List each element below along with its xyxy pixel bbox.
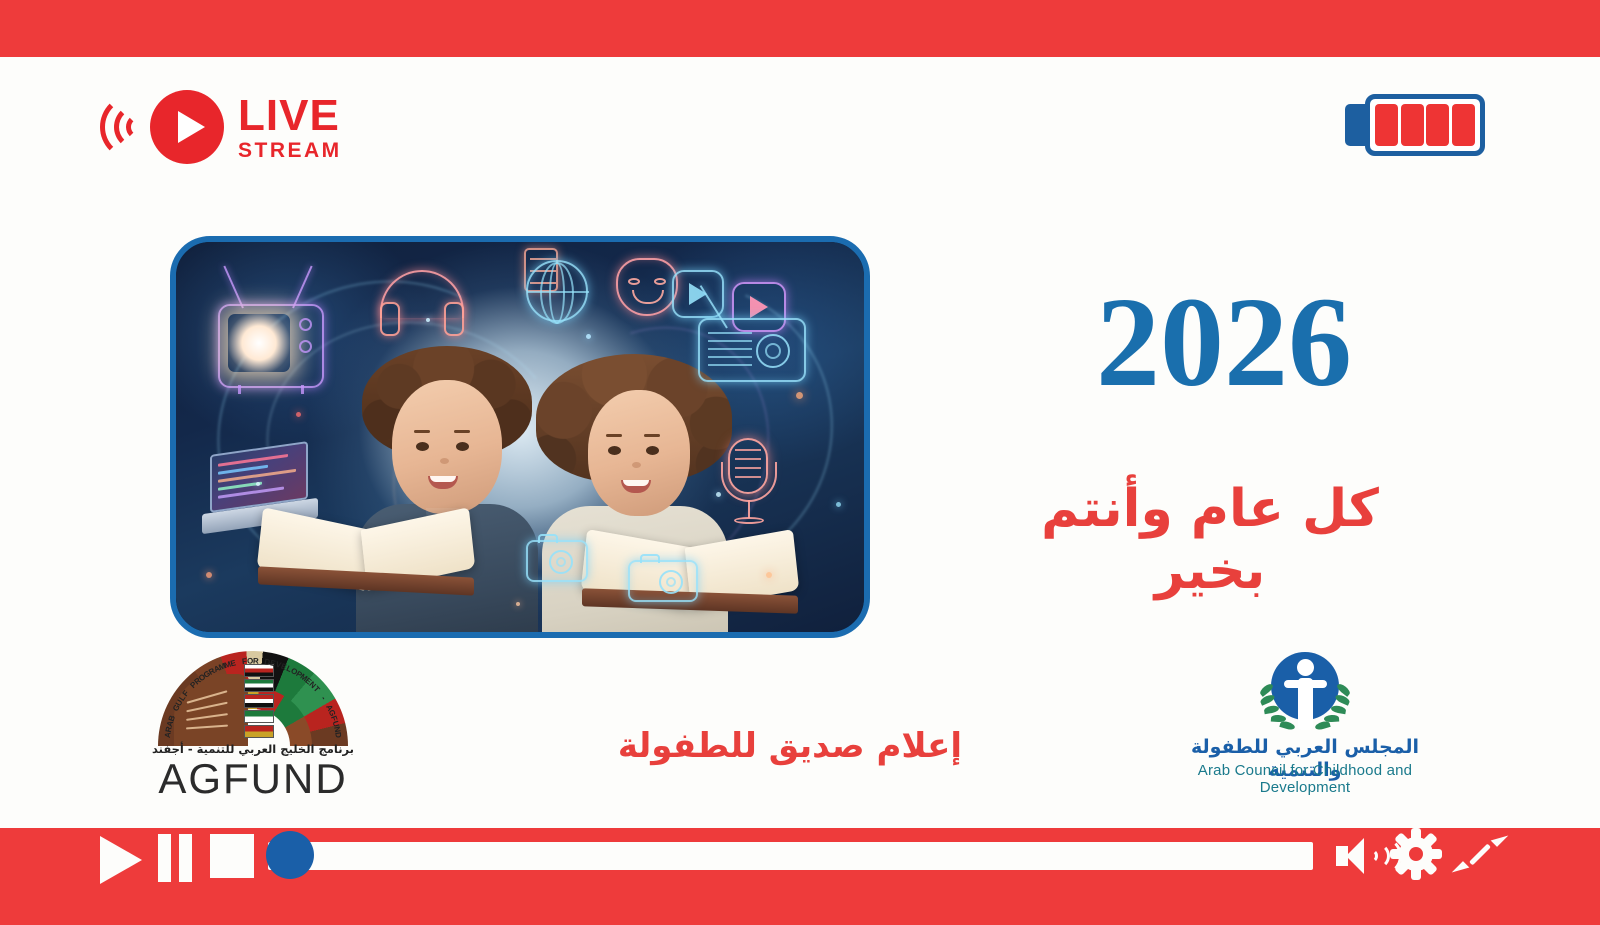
- gear-icon[interactable]: [1392, 830, 1440, 878]
- agfund-logo: ARAB GULF PROGRAMME FOR DEVELOPMENT - AG…: [148, 650, 358, 792]
- live-label: LIVE: [238, 94, 342, 138]
- agfund-arabic-name: برنامج الخليج العربي للتنمية - أجفند: [148, 742, 358, 756]
- progress-track[interactable]: [268, 842, 1313, 870]
- camera-icon: [526, 540, 588, 582]
- accd-child-emblem-icon: [1257, 652, 1353, 734]
- accd-logo: المجلس العربي للطفولة والتنمية Arab Coun…: [1185, 652, 1425, 792]
- live-stream-label: LIVE STREAM: [238, 94, 342, 161]
- pause-button[interactable]: [158, 834, 192, 882]
- volume-icon[interactable]: [1336, 832, 1392, 880]
- fullscreen-icon[interactable]: [1454, 828, 1506, 880]
- battery-bar: [1401, 104, 1424, 146]
- greeting-text: كل عام وأنتم بخير: [1000, 478, 1420, 603]
- top-red-bar: [0, 0, 1600, 57]
- battery-bar: [1375, 104, 1398, 146]
- slide-photo: [170, 236, 870, 638]
- tv-icon: [218, 304, 324, 388]
- agfund-flags: [244, 664, 274, 738]
- slogan-text: إعلام صديق للطفولة: [560, 726, 1020, 766]
- stream-label: STREAM: [238, 140, 342, 161]
- live-stream-badge: LIVE STREAM: [96, 82, 396, 172]
- broadcast-waves-icon: [96, 91, 148, 163]
- battery-bar: [1426, 104, 1449, 146]
- globe-icon: [526, 260, 588, 322]
- battery-icon: [1345, 94, 1485, 156]
- laurel-leaf-icon: [1257, 684, 1299, 732]
- accd-english-name: Arab Council for Childhood and Developme…: [1185, 762, 1425, 796]
- video-camera-icon: [628, 560, 698, 602]
- agfund-wordmark: AGFUND: [148, 758, 358, 800]
- laurel-leaf-icon: [1311, 684, 1353, 732]
- progress-handle[interactable]: [266, 831, 314, 879]
- play-button[interactable]: [100, 836, 142, 884]
- battery-terminal: [1345, 104, 1367, 146]
- stop-button[interactable]: [210, 834, 254, 878]
- microphone-icon: [728, 438, 768, 494]
- battery-bar: [1452, 104, 1475, 146]
- radio-icon: [698, 318, 806, 382]
- battery-body: [1365, 94, 1485, 156]
- agfund-arc-mark: [158, 650, 348, 746]
- year-heading: 2026: [1044, 278, 1404, 406]
